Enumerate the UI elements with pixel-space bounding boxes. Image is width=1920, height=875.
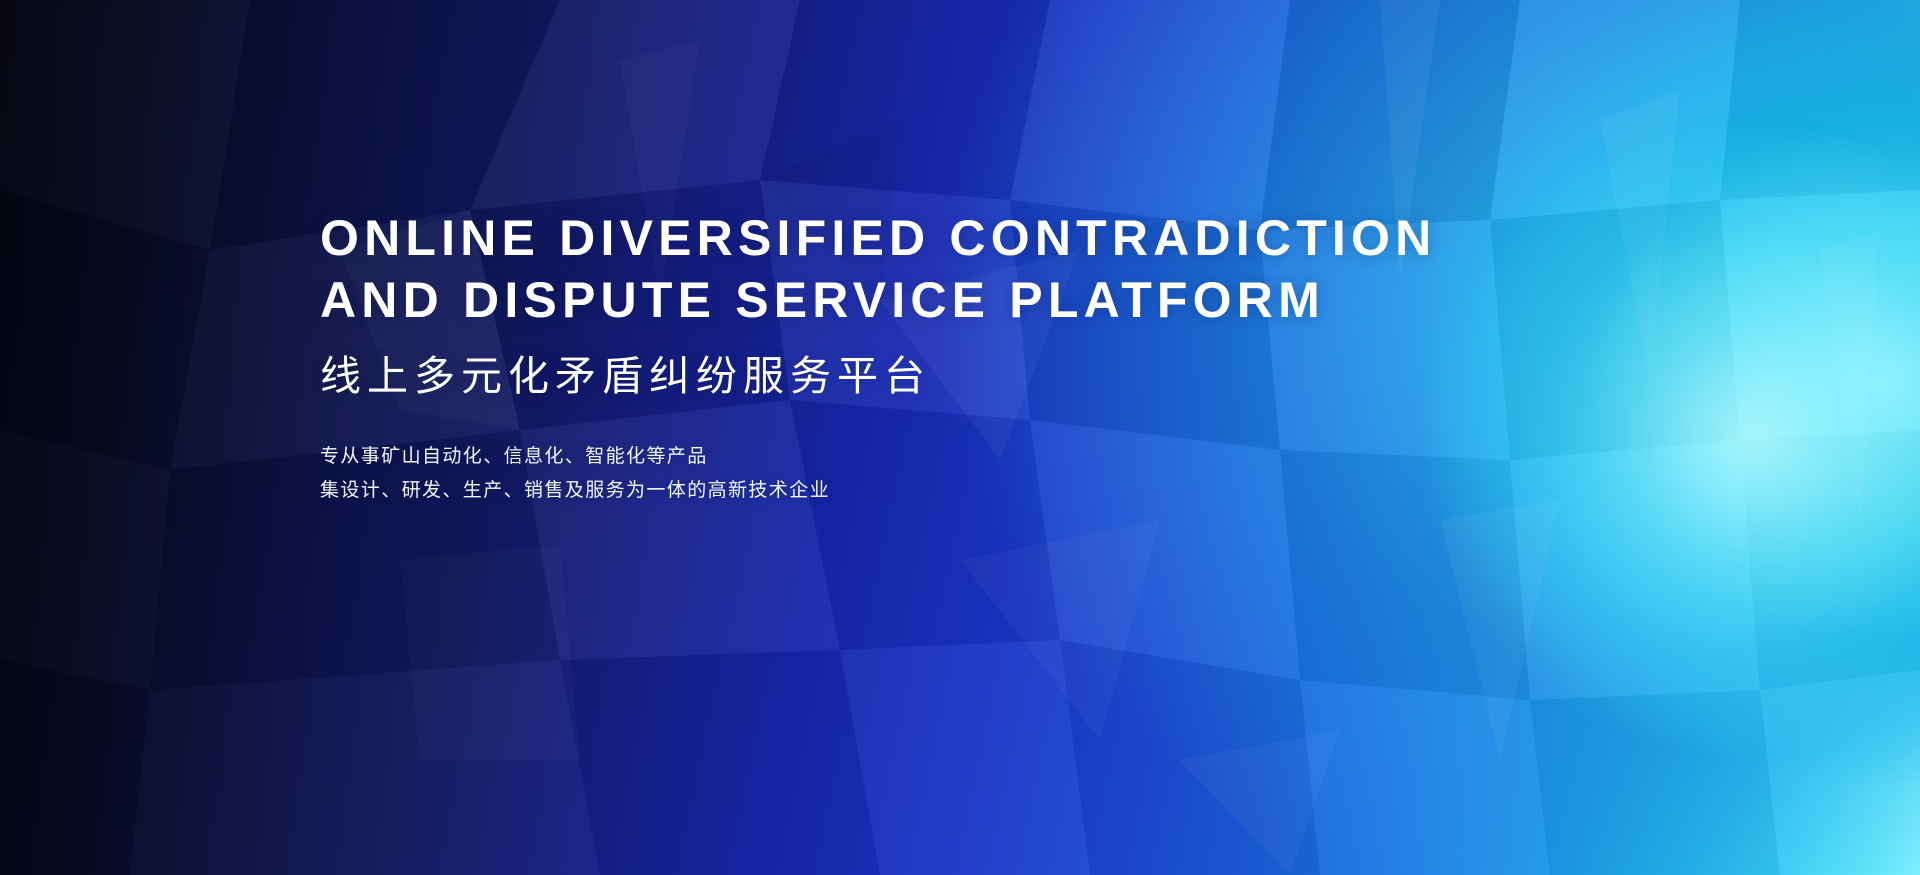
- banner-title-chinese: 线上多元化矛盾纠纷服务平台: [320, 350, 1580, 402]
- description-line-1: 专从事矿山自动化、信息化、智能化等产品: [320, 440, 1580, 474]
- description-line-2: 集设计、研发、生产、销售及服务为一体的高新技术企业: [320, 474, 1580, 508]
- title-english-line-1: ONLINE DIVERSIFIED CONTRADICTION: [320, 207, 1580, 269]
- title-english-line-2: AND DISPUTE SERVICE PLATFORM: [320, 269, 1580, 331]
- hero-banner: ONLINE DIVERSIFIED CONTRADICTION AND DIS…: [0, 0, 1920, 875]
- banner-description: 专从事矿山自动化、信息化、智能化等产品 集设计、研发、生产、销售及服务为一体的高…: [320, 440, 1580, 508]
- banner-title-english: ONLINE DIVERSIFIED CONTRADICTION AND DIS…: [320, 207, 1580, 331]
- banner-content: ONLINE DIVERSIFIED CONTRADICTION AND DIS…: [320, 207, 1580, 508]
